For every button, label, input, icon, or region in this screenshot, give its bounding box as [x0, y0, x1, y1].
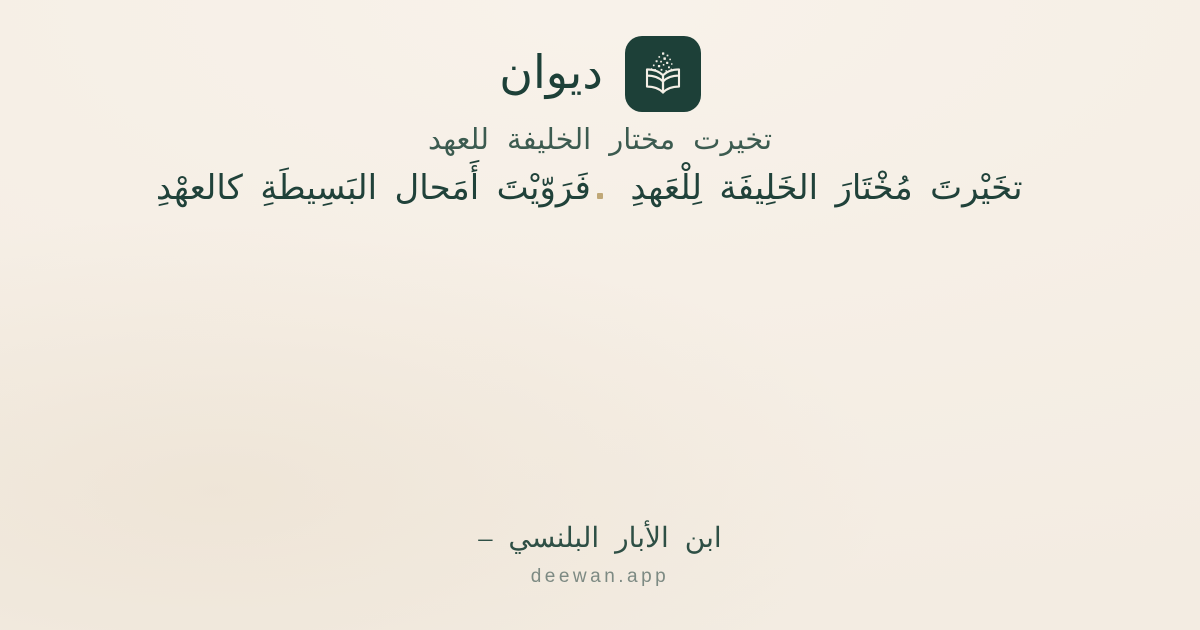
poem-title: تخيرت مختار الخليفة للعهد [0, 119, 1200, 161]
footer: ابن الأبار البلنسي – deewan.app [0, 521, 1200, 590]
brand-name: ديوان [499, 49, 603, 99]
verse-line: تخَيْرتَ مُخْتَارَ الخَلِيفَة لِلْعَهدِ … [0, 163, 1200, 214]
og-card: ديوان تخيرت مختار الخليفة للعهد تخَيْرتَ… [0, 0, 1200, 630]
deewan-logo [625, 36, 701, 112]
hemistich-separator-dot [597, 193, 603, 199]
hemistich-first: تخَيْرتَ مُخْتَارَ الخَلِيفَة لِلْعَهدِ [603, 163, 1050, 214]
poet-attribution: ابن الأبار البلنسي – [0, 521, 1200, 557]
site-url: deewan.app [0, 565, 1200, 590]
hemistich-second: فَرَوّيْتَ أَمَحال البَسِيطَةِ كالعهْدِ [150, 163, 597, 214]
open-book-with-sparkles-icon [637, 48, 689, 100]
brand-header: ديوان [0, 36, 1200, 112]
